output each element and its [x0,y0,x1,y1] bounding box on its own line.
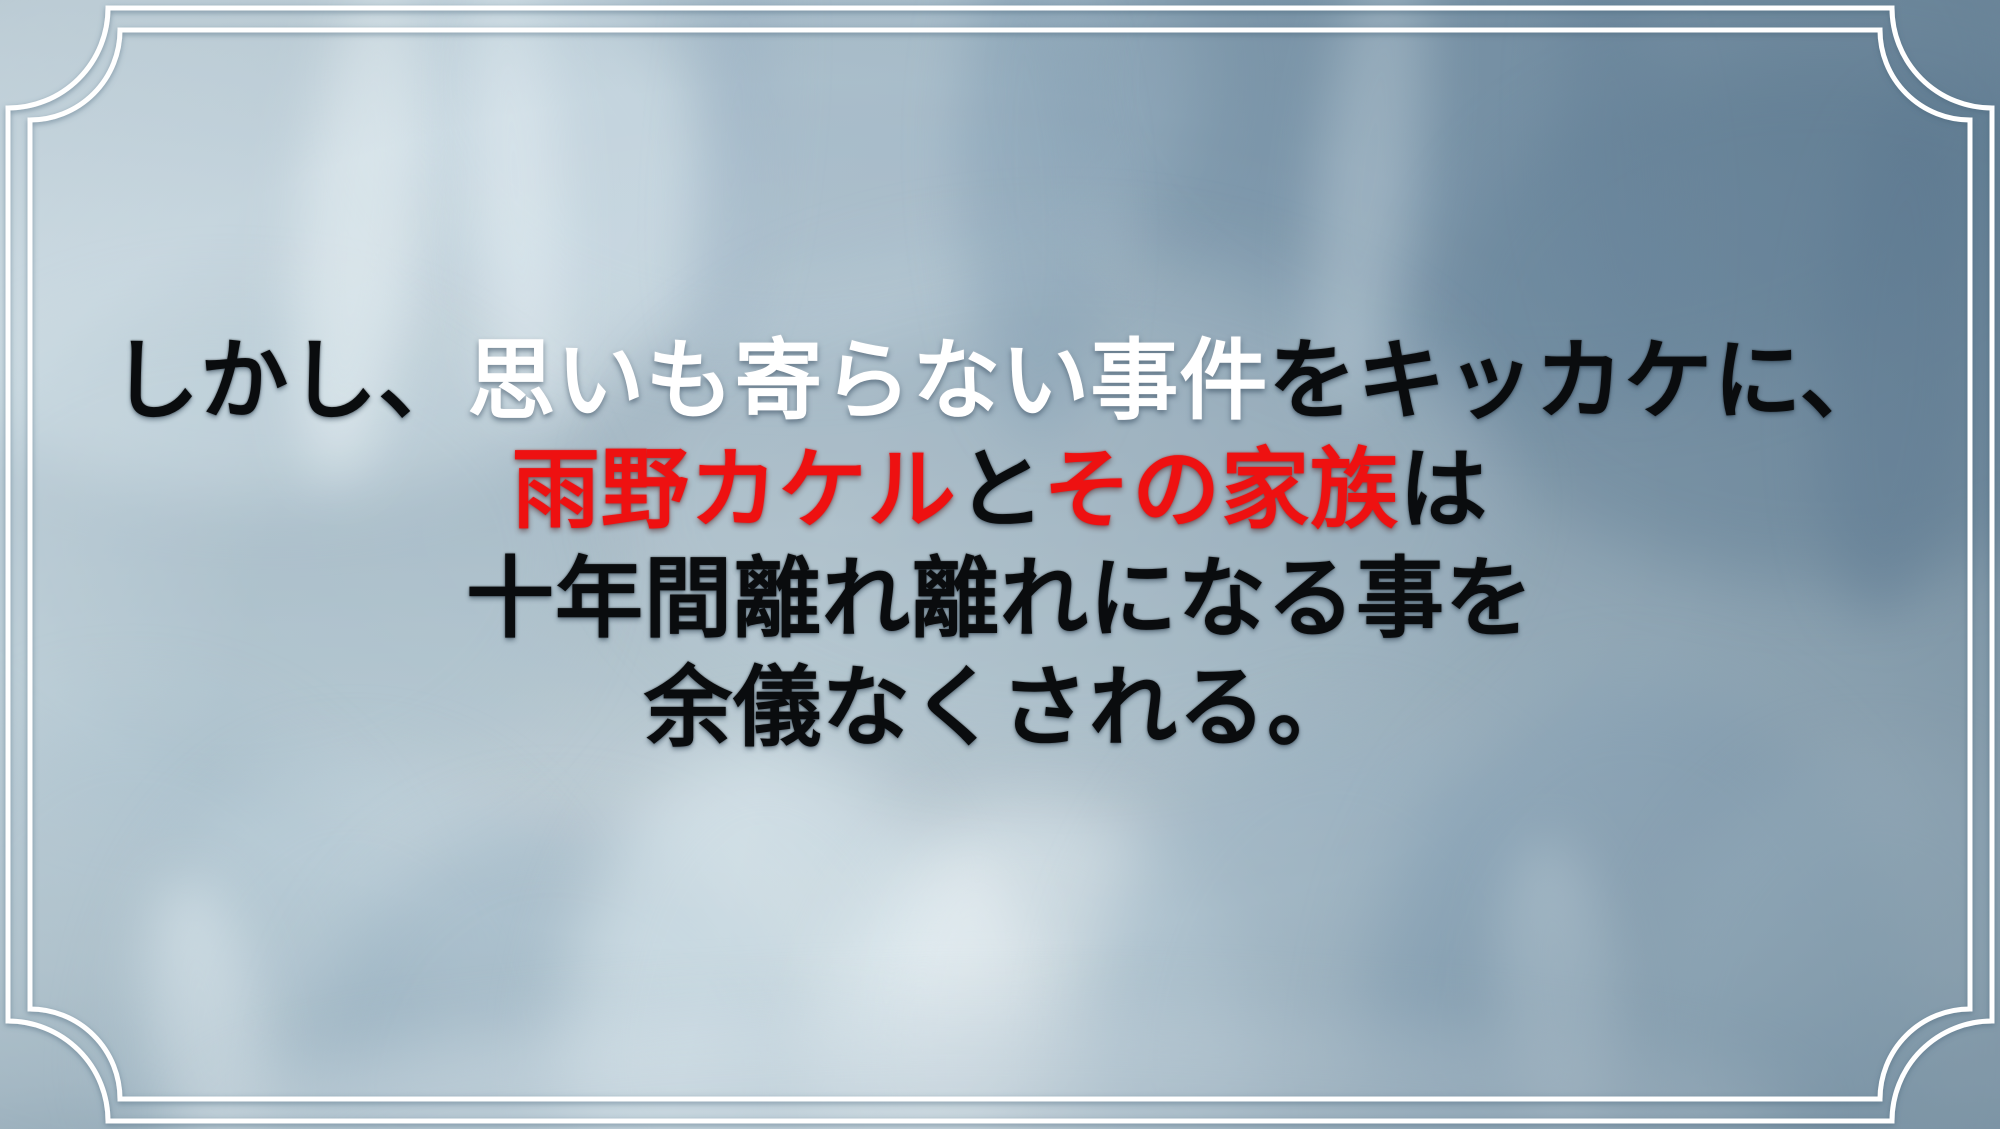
narration-line-1: しかし、思いも寄らない事件をキッカケに、 [0,336,2000,424]
narration-text-block: しかし、思いも寄らない事件をキッカケに、雨野カケルとその家族は十年間離れ離れにな… [0,336,2000,751]
narration-line-4: 余儀なくされる。 [0,663,2000,751]
narration-line-2: 雨野カケルとその家族は [0,445,2000,533]
narration-line-3: 十年間離れ離れになる事を [0,554,2000,642]
narration-segment-black: と [957,437,1043,541]
narration-segment-black: 十年間離れ離れになる事を [466,546,1534,650]
narration-segment-red: 雨野カケル [512,437,957,541]
narration-segment-black: 余儀なくされる。 [644,655,1356,759]
narration-segment-black: しかし、 [111,328,467,432]
narration-segment-white: 思いも寄らない事件 [467,328,1268,432]
screenshot-stage: しかし、思いも寄らない事件をキッカケに、雨野カケルとその家族は十年間離れ離れにな… [0,0,2000,1129]
narration-segment-black: は [1399,437,1488,541]
narration-segment-red: その家族 [1043,437,1399,541]
narration-segment-black: をキッカケに、 [1268,328,1888,432]
